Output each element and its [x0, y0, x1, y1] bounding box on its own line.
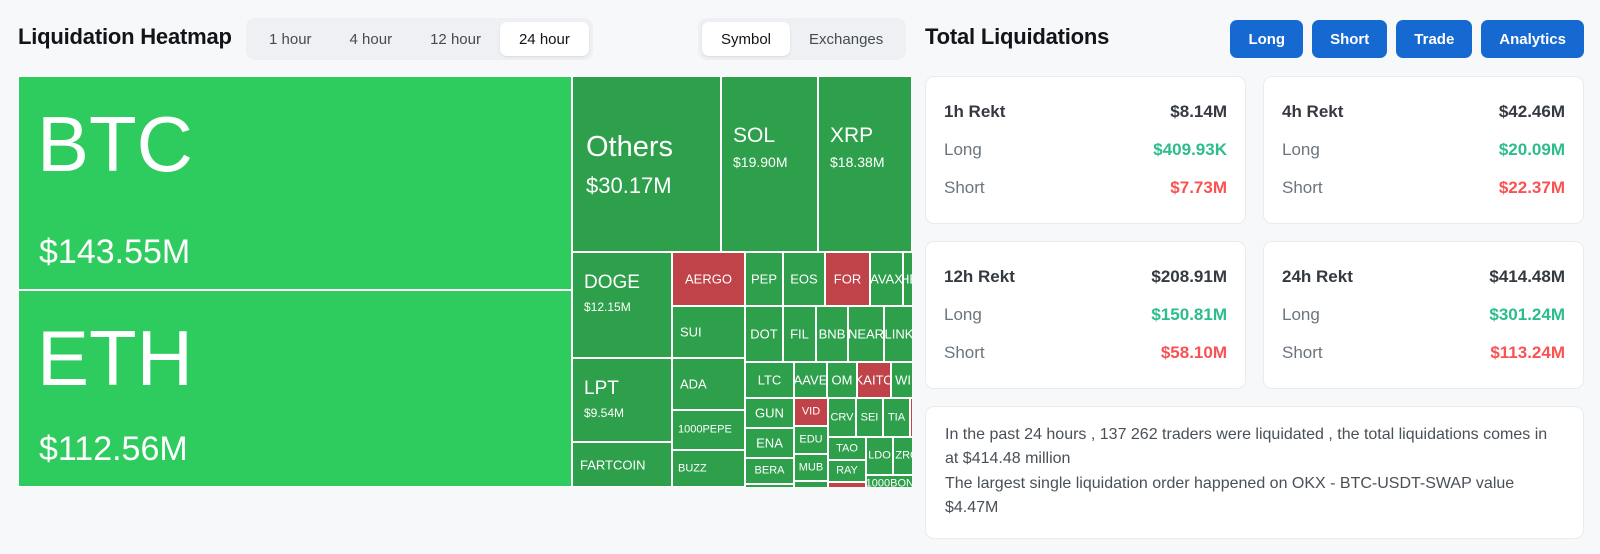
summary-line-2: The largest single liquidation order hap…: [945, 472, 1564, 521]
tile-symbol: LPT: [584, 379, 619, 398]
treemap-tile-sui[interactable]: SUI: [672, 306, 745, 358]
tile-symbol: BUZZ: [678, 463, 707, 474]
treemap-tile-1000bonk[interactable]: 1000BONK: [866, 475, 912, 487]
stat-long-label: Long: [944, 140, 982, 160]
summary-card: In the past 24 hours , 137 262 traders w…: [925, 406, 1584, 539]
treemap-tile-bera[interactable]: BERA: [745, 458, 794, 484]
stat-short-label: Short: [1282, 178, 1323, 198]
treemap-tile-1000pepe[interactable]: 1000PEPE: [672, 410, 745, 450]
stat-short-label: Short: [944, 178, 985, 198]
treemap-tile-buzz[interactable]: BUZZ: [672, 450, 745, 487]
treemap-tile-tia[interactable]: TIA: [883, 398, 910, 437]
treemap-tile-others[interactable]: Others$30.17M: [572, 76, 721, 252]
stat-period-label: 4h Rekt: [1282, 102, 1343, 122]
tile-symbol: SUI: [680, 326, 702, 339]
total-liquidations-title: Total Liquidations: [925, 24, 1109, 50]
stat-period-label: 24h Rekt: [1282, 267, 1353, 287]
tile-symbol: DOGE: [584, 273, 640, 292]
treemap-tile-lpt[interactable]: LPT$9.54M: [572, 358, 672, 442]
tile-symbol: DYD: [911, 412, 912, 423]
liquidation-treemap[interactable]: BTC$143.55METH$112.56MOthers$30.17MSOL$1…: [18, 76, 912, 487]
treemap-tile-avax[interactable]: AVAX: [870, 252, 903, 306]
treemap-tile-eth[interactable]: ETH$112.56M: [18, 290, 572, 487]
tile-symbol: HBAR: [903, 273, 912, 286]
treemap-tile-bnb[interactable]: BNB: [816, 306, 848, 362]
treemap-tile-hbar[interactable]: HBAR: [903, 252, 912, 306]
analytics-button[interactable]: Analytics: [1481, 20, 1584, 58]
tile-symbol: PEP: [751, 273, 777, 286]
treemap-tile-near[interactable]: NEAR: [848, 306, 884, 362]
stat-row: Short$22.37M: [1282, 169, 1565, 207]
tile-symbol: ENA: [756, 437, 783, 450]
stat-long-value: $409.93K: [1153, 140, 1227, 160]
treemap-tile-for[interactable]: FOR: [825, 252, 870, 306]
timeframe-tab-4-hour[interactable]: 4 hour: [331, 22, 412, 56]
tile-symbol: RAY: [836, 466, 858, 477]
stat-card-grid: 1h Rekt$8.14MLong$409.93KShort$7.73M4h R…: [925, 76, 1584, 389]
tile-symbol: CRV: [830, 412, 853, 423]
tile-symbol: LINK: [885, 328, 912, 341]
stat-short-value: $22.37M: [1499, 178, 1565, 198]
tile-value: $9.54M: [584, 407, 624, 419]
tile-symbol: LDO: [868, 451, 891, 462]
treemap-tile-dot[interactable]: DOT: [745, 306, 783, 362]
stat-card-24h: 24h Rekt$414.48MLong$301.24MShort$113.24…: [1263, 241, 1584, 389]
treemap-tile-aergo[interactable]: AERGO: [672, 252, 745, 306]
treemap-tile-aave[interactable]: AAVE: [794, 362, 827, 398]
treemap-tile-edu[interactable]: EDU: [794, 426, 828, 454]
action-button-row: LongShortTradeAnalytics: [1230, 20, 1584, 58]
tile-symbol: SEI: [861, 412, 879, 423]
grouping-tab-exchanges[interactable]: Exchanges: [790, 22, 902, 56]
long-button[interactable]: Long: [1230, 20, 1303, 58]
treemap-tile-link[interactable]: LINK: [884, 306, 912, 362]
tile-symbol: WIF: [895, 374, 912, 387]
stat-total-value: $8.14M: [1170, 102, 1227, 122]
tile-symbol: BTC: [37, 105, 193, 183]
stat-long-label: Long: [1282, 305, 1320, 325]
tile-symbol: 1000PEPE: [678, 425, 732, 436]
stat-long-value: $150.81M: [1151, 305, 1227, 325]
tile-symbol: GUN: [755, 407, 784, 420]
stat-row: 24h Rekt$414.48M: [1282, 258, 1565, 296]
treemap-tile-ton[interactable]: TON: [745, 484, 794, 487]
page-title: Liquidation Heatmap: [18, 24, 232, 50]
stat-row: Short$58.10M: [944, 334, 1227, 372]
tile-symbol: FIL: [790, 328, 809, 341]
tile-symbol: ETH: [37, 319, 193, 397]
treemap-tile-fil[interactable]: FIL: [783, 306, 816, 362]
treemap-tile-sei[interactable]: SEI: [856, 398, 883, 437]
treemap-tile-zro[interactable]: ZRO: [893, 437, 912, 475]
tile-symbol: TAO: [836, 443, 858, 454]
tile-symbol: AERGO: [685, 273, 732, 286]
tile-symbol: LTC: [758, 374, 782, 387]
stat-short-value: $58.10M: [1161, 343, 1227, 363]
stat-row: 4h Rekt$42.46M: [1282, 93, 1565, 131]
treemap-tile-ena[interactable]: ENA: [745, 428, 794, 458]
summary-line-1: In the past 24 hours , 137 262 traders w…: [945, 423, 1564, 472]
stat-row: Long$20.09M: [1282, 131, 1565, 169]
tile-value: $112.56M: [39, 432, 188, 466]
tile-symbol: ADA: [680, 378, 707, 391]
stat-row: Short$113.24M: [1282, 334, 1565, 372]
timeframe-tab-group[interactable]: 1 hour4 hour12 hour24 hour: [246, 18, 593, 60]
tile-symbol: VID: [802, 407, 820, 418]
stat-row: Short$7.73M: [944, 169, 1227, 207]
treemap-tile-wif[interactable]: WIF: [891, 362, 912, 398]
tile-symbol: SOL: [733, 125, 775, 146]
treemap-tile-ltc[interactable]: LTC: [745, 362, 794, 398]
tile-symbol: OM: [832, 374, 853, 387]
treemap-tile-dyd[interactable]: DYD: [910, 398, 912, 437]
treemap-tile-vid[interactable]: VID: [794, 398, 828, 426]
stat-row: 1h Rekt$8.14M: [944, 93, 1227, 131]
treemap-tile-algo[interactable]: ALGO: [828, 482, 866, 487]
tile-symbol: 1000BONK: [866, 478, 912, 487]
tile-symbol: KAITO: [857, 374, 891, 387]
treemap-tile-sol[interactable]: SOL$19.90M: [721, 76, 818, 252]
tile-symbol: FOR: [834, 273, 861, 286]
stat-short-label: Short: [944, 343, 985, 363]
tile-value: $30.17M: [586, 175, 672, 197]
stat-period-label: 1h Rekt: [944, 102, 1005, 122]
treemap-tile-crv[interactable]: CRV: [828, 398, 856, 437]
page-header: Liquidation Heatmap 1 hour4 hour12 hour2…: [0, 0, 1600, 74]
treemap-tile-fartcoin[interactable]: FARTCOIN: [572, 442, 672, 487]
treemap-tile-xrp[interactable]: XRP$18.38M: [818, 76, 912, 252]
stat-row: Long$150.81M: [944, 296, 1227, 334]
trade-button[interactable]: Trade: [1396, 20, 1472, 58]
treemap-tile-gun[interactable]: GUN: [745, 398, 794, 428]
stat-total-value: $42.46M: [1499, 102, 1565, 122]
tile-value: $143.55M: [39, 235, 190, 269]
tile-symbol: AAVE: [794, 374, 827, 387]
stat-long-value: $301.24M: [1489, 305, 1565, 325]
stat-card-12h: 12h Rekt$208.91MLong$150.81MShort$58.10M: [925, 241, 1246, 389]
tile-symbol: EOS: [790, 273, 817, 286]
grouping-tab-group[interactable]: SymbolExchanges: [698, 18, 906, 60]
tile-value: $18.38M: [830, 155, 884, 169]
stat-period-label: 12h Rekt: [944, 267, 1015, 287]
tile-symbol: NEAR: [848, 328, 884, 341]
treemap-tile-kaito[interactable]: KAITO: [857, 362, 891, 398]
stat-long-value: $20.09M: [1499, 140, 1565, 160]
grouping-tab-symbol[interactable]: Symbol: [702, 22, 790, 56]
tile-symbol: BERA: [755, 466, 785, 477]
stat-card-1h: 1h Rekt$8.14MLong$409.93KShort$7.73M: [925, 76, 1246, 224]
tile-symbol: DOT: [750, 328, 777, 341]
timeframe-tab-1-hour[interactable]: 1 hour: [250, 22, 331, 56]
treemap-tile-ldo[interactable]: LDO: [866, 437, 893, 475]
tile-symbol: BNB: [819, 328, 846, 341]
treemap-tile-eos[interactable]: EOS: [783, 252, 825, 306]
treemap-tile-pep[interactable]: PEP: [745, 252, 783, 306]
short-button[interactable]: Short: [1312, 20, 1387, 58]
tile-symbol: AVAX: [870, 273, 903, 286]
stat-row: 12h Rekt$208.91M: [944, 258, 1227, 296]
treemap-tile-ada[interactable]: ADA: [672, 358, 745, 410]
tile-symbol: TIA: [888, 412, 905, 423]
stat-short-value: $113.24M: [1490, 343, 1565, 363]
treemap-tile-tao[interactable]: TAO: [828, 437, 866, 460]
treemap-tile-pen[interactable]: PEN: [794, 481, 828, 487]
stats-panel: 1h Rekt$8.14MLong$409.93KShort$7.73M4h R…: [925, 76, 1584, 539]
stat-long-label: Long: [1282, 140, 1320, 160]
stat-row: Long$409.93K: [944, 131, 1227, 169]
treemap-tile-ray[interactable]: RAY: [828, 460, 866, 482]
tile-symbol: ZRO: [895, 451, 912, 462]
tile-symbol: EDU: [799, 435, 822, 446]
treemap-tile-btc[interactable]: BTC$143.55M: [18, 76, 572, 290]
stat-short-value: $7.73M: [1170, 178, 1227, 198]
stat-card-4h: 4h Rekt$42.46MLong$20.09MShort$22.37M: [1263, 76, 1584, 224]
treemap-tile-doge[interactable]: DOGE$12.15M: [572, 252, 672, 358]
tile-symbol: XRP: [830, 125, 873, 146]
tile-symbol: FARTCOIN: [580, 458, 646, 471]
tile-value: $19.90M: [733, 155, 787, 169]
tile-symbol: Others: [586, 133, 673, 162]
timeframe-tab-24-hour[interactable]: 24 hour: [500, 22, 589, 56]
stat-total-value: $208.91M: [1151, 267, 1227, 287]
stat-short-label: Short: [1282, 343, 1323, 363]
tile-symbol: MUB: [799, 462, 823, 473]
tile-value: $12.15M: [584, 301, 631, 313]
treemap-tile-om[interactable]: OM: [827, 362, 857, 398]
stat-total-value: $414.48M: [1489, 267, 1565, 287]
stat-long-label: Long: [944, 305, 982, 325]
stat-row: Long$301.24M: [1282, 296, 1565, 334]
timeframe-tab-12-hour[interactable]: 12 hour: [411, 22, 500, 56]
treemap-tile-mub[interactable]: MUB: [794, 454, 828, 481]
